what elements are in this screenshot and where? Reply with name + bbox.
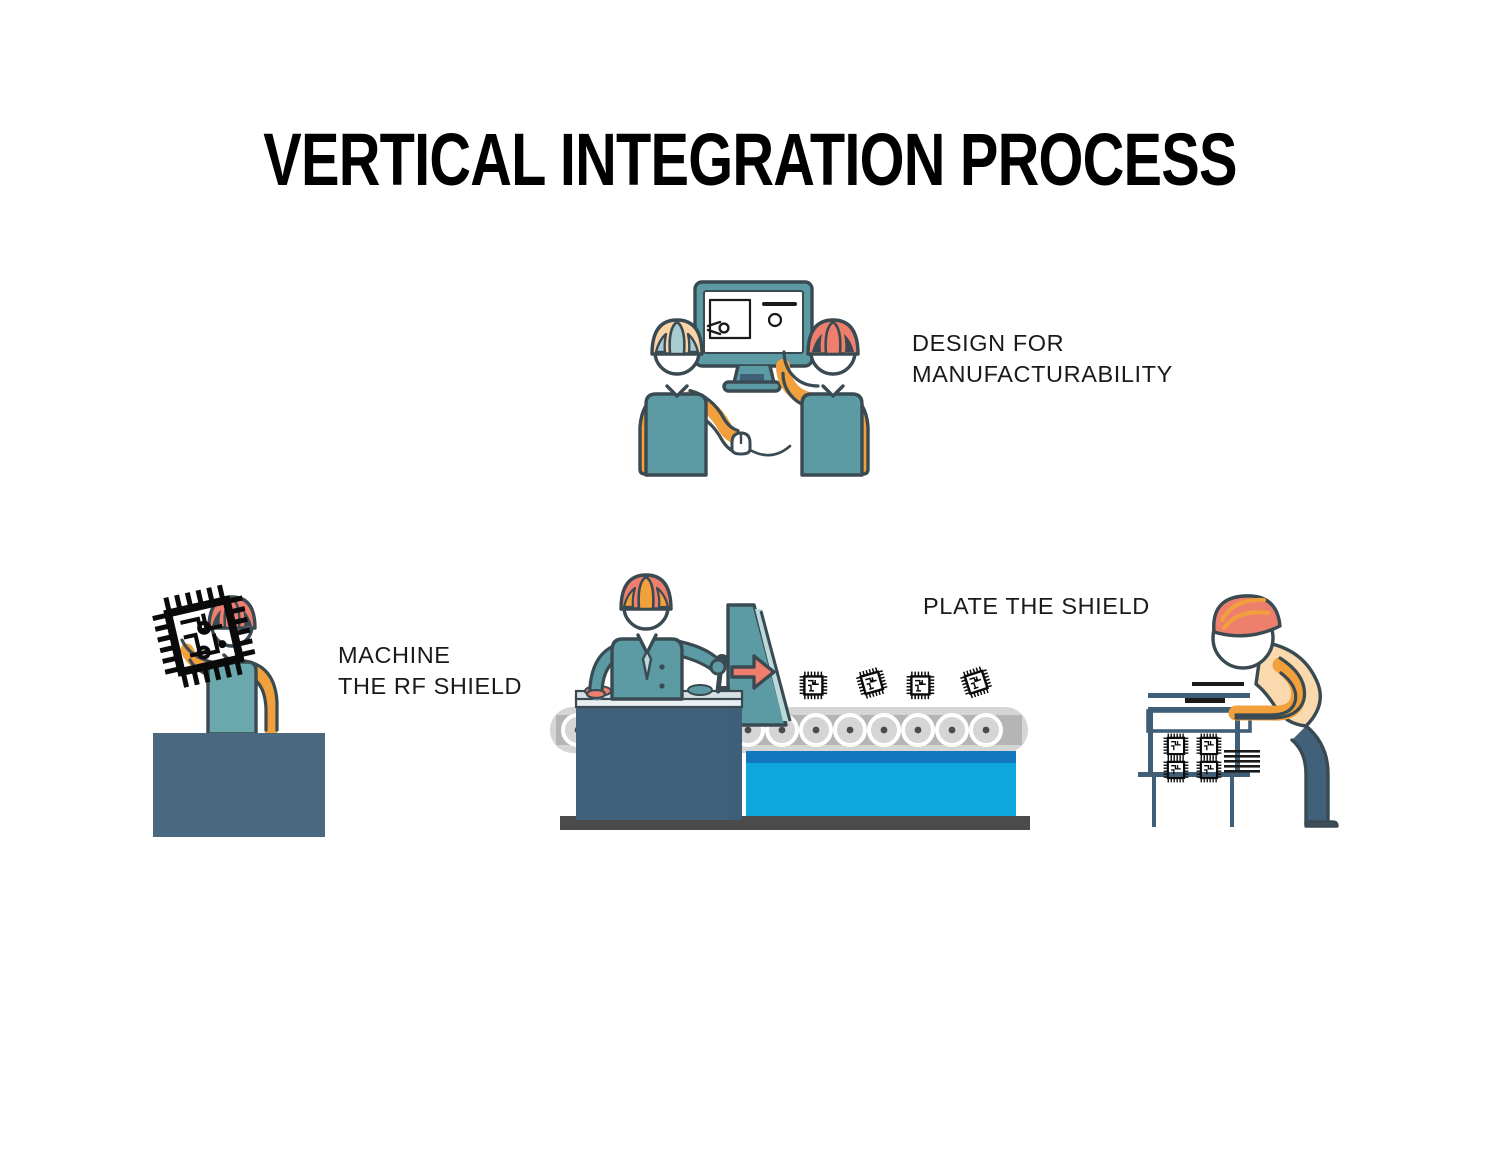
workbench-block: [153, 733, 325, 837]
machine-illustration: [150, 570, 400, 840]
inspection-table: [1138, 682, 1250, 827]
step-label-design-for-manufacturability: DESIGN FOR MANUFACTURABILITY: [912, 328, 1173, 391]
computer-mouse: [732, 433, 790, 455]
scene-design-for-manufacturability: [620, 270, 920, 490]
machine-operator: [587, 575, 725, 699]
document-lines: [1224, 750, 1260, 773]
control-console: [576, 685, 742, 820]
inspection-illustration: [1130, 580, 1360, 830]
microchips-on-belt: [800, 665, 994, 700]
plating-tank: [746, 751, 1016, 816]
computer-monitor: [695, 282, 812, 391]
scene-inspection: [1130, 580, 1360, 830]
scene-machine-rf-shield: [150, 570, 400, 840]
page-title: VERTICAL INTEGRATION PROCESS: [165, 123, 1335, 197]
step-label-machine-rf-shield: MACHINE THE RF SHIELD: [338, 640, 522, 703]
step-label-plate-shield: PLATE THE SHIELD: [923, 591, 1150, 622]
design-illustration: [620, 270, 920, 490]
infographic-canvas: VERTICAL INTEGRATION PROCESS: [0, 0, 1500, 1159]
